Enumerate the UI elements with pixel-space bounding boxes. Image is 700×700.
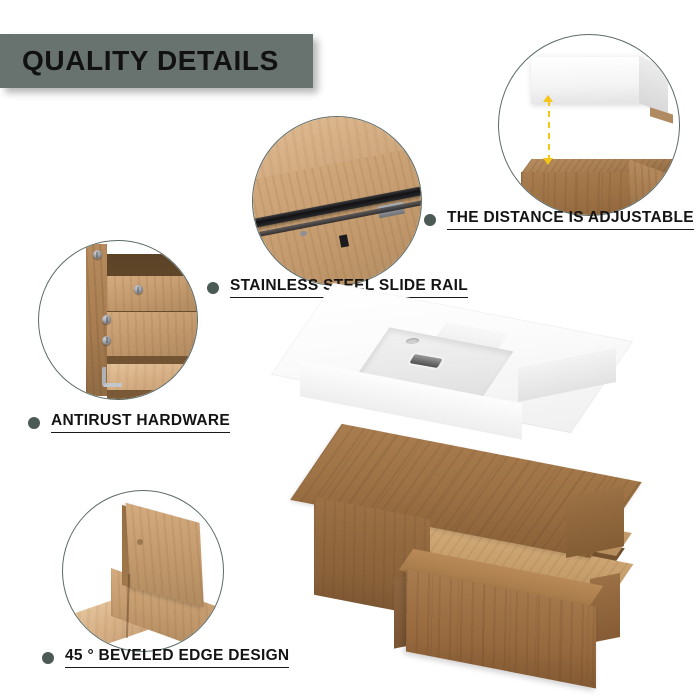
screw-icon: [134, 285, 143, 294]
bullet-icon: [424, 214, 436, 226]
bevel-photo: [63, 491, 223, 651]
bevel-knot-mark: [137, 539, 143, 545]
slide-rail-inset: [252, 116, 422, 286]
distance-arrow-up-icon: [543, 95, 553, 102]
distance-adjustable-inset: [498, 34, 680, 216]
page-title: QUALITY DETAILS: [22, 45, 279, 77]
adjustable-distance-dashed-line: [548, 100, 550, 161]
callout-bevel-label: 45 ° BEVELED EDGE DESIGN: [65, 648, 289, 668]
bullet-icon: [207, 282, 219, 294]
product-illustration: [286, 300, 686, 680]
slide-rail-photo: [253, 117, 421, 285]
hardware-photo: [39, 241, 197, 399]
callout-distance: THE DISTANCE IS ADJUSTABLE: [424, 210, 694, 230]
distance-arrow-down-icon: [543, 158, 553, 165]
callout-distance-label: THE DISTANCE IS ADJUSTABLE: [447, 210, 694, 230]
screw-icon: [102, 336, 111, 345]
infographic-page: QUALITY DETAILS: [0, 0, 700, 700]
beveled-edge-inset: [62, 490, 224, 652]
callout-hardware-label: ANTIRUST HARDWARE: [51, 413, 230, 433]
bullet-icon: [28, 417, 40, 429]
lower-drawer-panel: [96, 312, 197, 356]
callout-bevel: 45 ° BEVELED EDGE DESIGN: [42, 648, 289, 668]
metal-corner-bracket: [102, 367, 122, 387]
header-banner: QUALITY DETAILS: [0, 34, 313, 88]
callout-hardware: ANTIRUST HARDWARE: [28, 413, 230, 433]
distance-photo: [499, 35, 679, 215]
antirust-hardware-inset: [38, 240, 198, 400]
bullet-icon: [42, 652, 54, 664]
upper-drawer-panel: [107, 276, 197, 311]
cabinet-right-face: [566, 486, 624, 558]
wood-vanity-cabinet: [294, 448, 684, 680]
